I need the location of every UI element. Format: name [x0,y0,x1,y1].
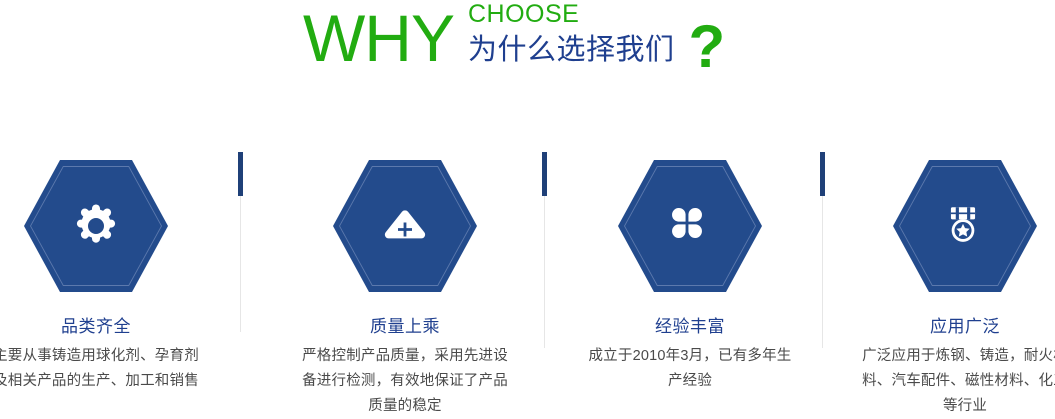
feature-card-2-desc: 严格控制产品质量，采用先进设备进行检测，有效地保证了产品质量的稳定 [285,344,525,419]
feature-card-2[interactable]: 质量上乘 严格控制产品质量，采用先进设备进行检测，有效地保证了产品质量的稳定 [285,160,525,419]
clover-icon [662,198,718,254]
feature-card-2-hexagon [333,160,477,292]
heading-choose: CHOOSE [468,1,675,28]
medal-icon [937,198,993,254]
triangle-plus-icon [377,198,433,254]
heading-question-mark: ? [689,16,726,78]
heading-why: WHY [303,2,454,74]
heading-chinese-title: 为什么选择我们 [468,30,675,70]
feature-card-1-desc: 主要从事铸造用球化剂、孕育剂及相关产品的生产、加工和销售 [0,344,216,394]
divider-3 [822,152,823,348]
section-heading: WHY CHOOSE 为什么选择我们 ? [0,0,1055,95]
divider-2 [544,152,545,348]
feature-card-3[interactable]: 经验丰富 成立于2010年3月，已有多年生产经验 [570,160,810,394]
feature-card-4-hexagon [893,160,1037,292]
heading-choose-block: CHOOSE 为什么选择我们 [468,1,675,70]
feature-card-1-title: 品类齐全 [0,316,216,338]
feature-card-1[interactable]: 品类齐全 主要从事铸造用球化剂、孕育剂及相关产品的生产、加工和销售 [0,160,216,394]
feature-card-1-hexagon [24,160,168,292]
feature-card-2-title: 质量上乘 [285,316,525,338]
feature-card-3-title: 经验丰富 [570,316,810,338]
divider-1 [240,152,241,332]
feature-card-3-desc: 成立于2010年3月，已有多年生产经验 [570,344,810,394]
divider-1-cap [238,152,243,196]
feature-card-4-desc: 广泛应用于炼钢、铸造，耐火材料、汽车配件、磁性材料、化工等行业 [845,344,1055,419]
feature-card-4-title: 应用广泛 [845,316,1055,338]
divider-2-cap [542,152,547,196]
gear-icon [68,198,124,254]
heading-inner: WHY CHOOSE 为什么选择我们 ? [303,0,725,78]
feature-card-4[interactable]: 应用广泛 广泛应用于炼钢、铸造，耐火材料、汽车配件、磁性材料、化工等行业 [845,160,1055,419]
divider-3-cap [820,152,825,196]
feature-card-3-hexagon [618,160,762,292]
